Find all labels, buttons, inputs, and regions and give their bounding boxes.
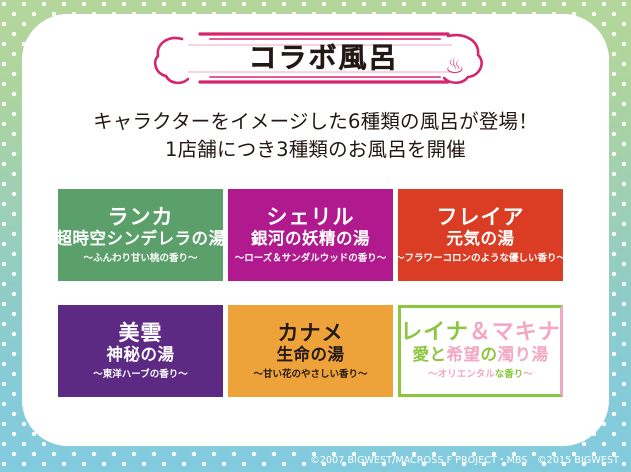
card-character-name: カナメ [278,322,344,344]
card-name-part-makina: ＆マキナ [469,320,561,345]
bath-card-reina-makina[interactable]: レイナ＆マキナ 愛と希望の濁り湯 〜オリエンタルな香り〜 [398,305,563,397]
card-scent-note: 〜フラワーコロンのような優しい香り〜 [398,254,563,264]
card-character-name: フレイア [437,206,525,228]
bath-card-ranka[interactable]: ランカ 超時空シンデレラの湯 〜ふんわり甘い桃の香り〜 [58,189,223,281]
card-scent-note: 〜甘い花のやさしい香り〜 [253,370,367,380]
bath-card-mikumo[interactable]: 美雲 神秘の湯 〜東洋ハーブの香り〜 [58,305,223,397]
bath-card-grid: ランカ 超時空シンデレラの湯 〜ふんわり甘い桃の香り〜 シェリル 銀河の妖精の湯… [58,189,573,397]
card-bath-part-1: 愛と [413,345,447,364]
banner-title-text: コラボ風呂 [148,26,493,90]
card-scent-note: 〜東洋ハーブの香り〜 [93,370,187,380]
card-name-part-reina: レイナ [400,320,469,345]
card-character-name: シェリル [267,206,355,228]
poster-root: コラボ風呂 ♨ キャラクターをイメージした6種類の風呂が登場！ 1店舗につき3種… [0,0,631,472]
card-scent-part-3: 〜 [523,369,533,380]
card-bath-name: 元気の湯 [447,230,515,248]
card-scent-note: 〜ふんわり甘い桃の香り〜 [83,254,197,264]
copyright-credit: ©2007 BIGWEST/MACROSS F PROJECT・MBS ©201… [310,452,619,466]
bath-card-kaname[interactable]: カナメ 生命の湯 〜甘い花のやさしい香り〜 [228,305,393,397]
card-bath-name: 愛と希望の濁り湯 [413,346,549,364]
card-bath-part-3: の [481,345,498,364]
card-bath-name: 超時空シンデレラの湯 [58,230,223,248]
title-banner: コラボ風呂 ♨ [148,26,493,90]
card-scent-note: 〜オリエンタルな香り〜 [428,370,533,380]
card-bath-part-2: 希望 [447,345,481,364]
subtitle-line-1: キャラクターをイメージした6種類の風呂が登場！ [0,108,631,136]
card-bath-part-4: 濁り湯 [498,345,549,364]
bath-card-freyja[interactable]: フレイア 元気の湯 〜フラワーコロンのような優しい香り〜 [398,189,563,281]
card-scent-note: 〜ローズ＆サンダルウッドの香り〜 [235,254,387,264]
card-character-name: ランカ [108,206,174,228]
card-scent-part-2: な香り [495,369,524,380]
card-character-name: レイナ＆マキナ [400,321,561,344]
card-bath-name: 生命の湯 [277,346,345,364]
card-character-name: 美雲 [119,322,163,344]
card-bath-name: 銀河の妖精の湯 [251,230,370,248]
onsen-hot-spring-icon: ♨ [445,56,465,78]
card-bath-name: 神秘の湯 [107,346,175,364]
card-scent-part-1: 〜オリエンタル [428,369,495,380]
subtitle-block: キャラクターをイメージした6種類の風呂が登場！ 1店舗につき3種類のお風呂を開催 [0,108,631,163]
bath-card-sheryl[interactable]: シェリル 銀河の妖精の湯 〜ローズ＆サンダルウッドの香り〜 [228,189,393,281]
subtitle-line-2: 1店舗につき3種類のお風呂を開催 [0,136,631,164]
